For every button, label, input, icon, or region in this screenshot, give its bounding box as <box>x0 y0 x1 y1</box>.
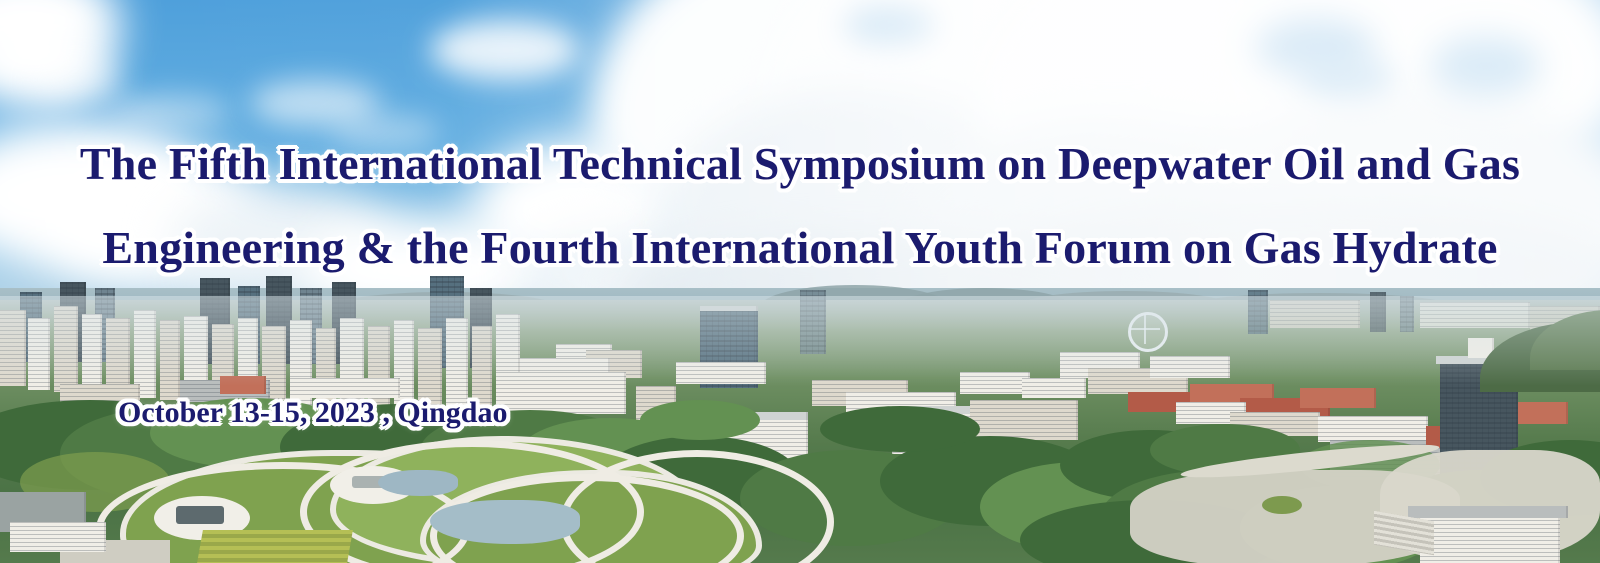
ferris-wheel-icon <box>1128 312 1168 352</box>
ferris-wheel-spoke <box>1130 328 1160 330</box>
foreground-building-roof <box>1408 506 1568 518</box>
distant-skyline-block <box>1420 302 1530 328</box>
title-line-2: Engineering & the Fourth International Y… <box>0 206 1600 290</box>
water-feature <box>430 500 580 544</box>
skyscraper <box>800 290 826 354</box>
low-rise-block <box>290 378 400 398</box>
residential-tower <box>82 314 102 394</box>
residential-tower <box>54 306 78 392</box>
distant-skyscraper <box>1370 292 1386 332</box>
residential-tower <box>28 318 50 390</box>
distant-skyscraper <box>1248 290 1268 334</box>
residential-tower <box>160 320 180 400</box>
campus-building <box>676 362 766 384</box>
distant-skyscraper <box>1400 296 1414 332</box>
plaza-flowerbed <box>1262 496 1302 514</box>
tree-mass <box>640 400 760 440</box>
campus-tower-roof <box>700 306 758 311</box>
water-feature <box>378 470 458 496</box>
residential-tower <box>0 310 26 386</box>
rooftop-equipment <box>176 506 224 524</box>
coastal-building <box>1318 416 1428 442</box>
coastal-building <box>1150 356 1230 378</box>
title-line-1: The Fifth International Technical Sympos… <box>0 122 1600 206</box>
campus-building <box>1022 378 1086 398</box>
foreground-building <box>10 522 106 552</box>
foreground-building <box>1420 516 1560 563</box>
tree-mass <box>820 406 980 452</box>
banner-title: The Fifth International Technical Sympos… <box>0 122 1600 290</box>
event-date-location: October 13-15, 2023 , Qingdao <box>118 396 507 430</box>
campus-building <box>960 372 1030 394</box>
terraced-lawn <box>197 530 353 563</box>
low-rise-block <box>220 376 266 394</box>
distant-skyline-block <box>1270 300 1360 328</box>
campus-building <box>970 400 1078 440</box>
conference-banner: The Fifth International Technical Sympos… <box>0 0 1600 563</box>
campus-building <box>496 372 626 414</box>
red-roof-building <box>1300 388 1376 408</box>
